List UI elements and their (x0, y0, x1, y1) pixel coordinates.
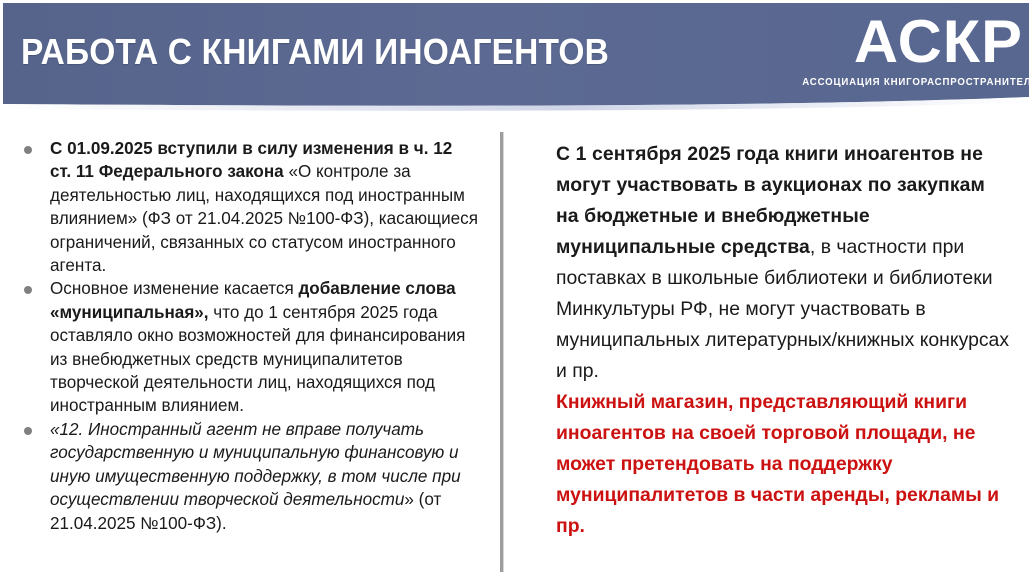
bullet-2-lead: Основное изменение касается (50, 279, 298, 298)
bullet-dot-icon (24, 427, 32, 435)
bullet-list: С 01.09.2025 вступили в силу изменения в… (0, 137, 486, 535)
header-band: РАБОТА С КНИГАМИ ИНОАГЕНТОВ АСКР АССОЦИА… (3, 3, 1029, 115)
list-item: Основное изменение касается добавление с… (0, 277, 486, 417)
left-column: С 01.09.2025 вступили в силу изменения в… (0, 126, 486, 535)
list-item: «12. Иностранный агент не вправе получат… (0, 418, 486, 535)
logo-wordmark: АСКР (778, 12, 1023, 72)
bullet-dot-icon (24, 286, 32, 294)
content-area: С 01.09.2025 вступили в силу изменения в… (0, 126, 1032, 582)
slide-canvas: РАБОТА С КНИГАМИ ИНОАГЕНТОВ АСКР АССОЦИА… (0, 0, 1032, 582)
bullet-3-italic-part: 12. Иностранный агент не вправе получать… (50, 420, 461, 509)
logo: АСКР АССОЦИАЦИЯ КНИГОРАСПРОСТРАНИТЕЛЕЙ (783, 12, 1023, 88)
bullet-dot-icon (24, 146, 32, 154)
page-title: РАБОТА С КНИГАМИ ИНОАГЕНТОВ (21, 30, 609, 74)
bullet-3-quote-open: « (50, 420, 60, 439)
column-divider (500, 132, 503, 572)
list-item: С 01.09.2025 вступили в силу изменения в… (0, 137, 486, 277)
right-paragraph-2-highlight: Книжный магазин, представляющий книги ин… (556, 387, 1012, 542)
logo-subtitle: АССОЦИАЦИЯ КНИГОРАСПРОСТРАНИТЕЛЕЙ (802, 76, 1023, 88)
right-paragraph-1: С 1 сентября 2025 года книги иноагентов … (556, 139, 1012, 387)
right-column: С 1 сентября 2025 года книги иноагентов … (556, 126, 1012, 542)
